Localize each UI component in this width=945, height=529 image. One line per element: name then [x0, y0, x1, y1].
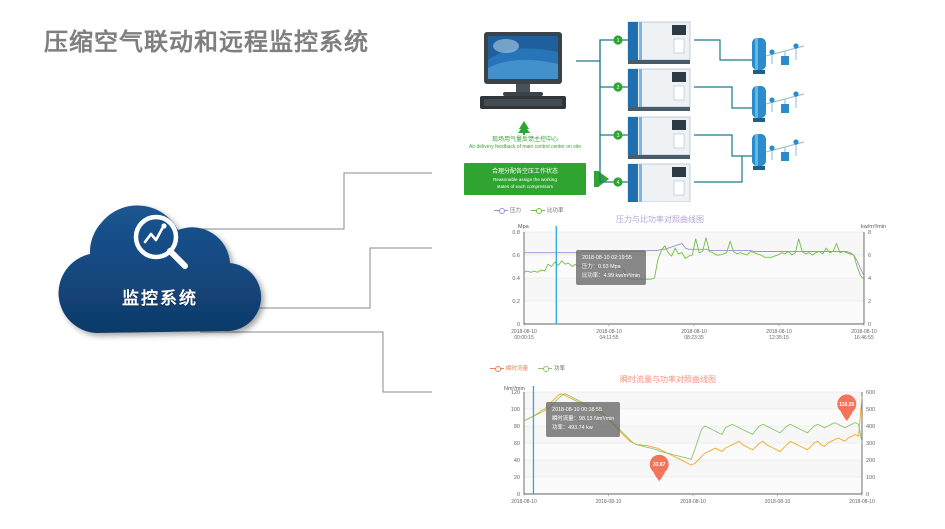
svg-text:4: 4 — [617, 180, 620, 186]
tooltip-timestamp: 2018-08-10 02:19:55 — [582, 254, 640, 263]
tooltip-line-1: 瞬时流量：98.13 Nm³/min — [552, 415, 614, 424]
svg-text:2018-08-10: 2018-08-10 — [596, 499, 622, 505]
pressure-chart-panel: 压力 比功率 压力与比功率对照曲线图 Mpa kw/m³/min 00.20.4… — [488, 202, 888, 340]
svg-text:300: 300 — [866, 441, 875, 447]
svg-text:1: 1 — [617, 38, 620, 44]
tooltip-timestamp: 2018-08-10 00:38:55 — [552, 406, 614, 415]
svg-text:40: 40 — [514, 458, 520, 464]
svg-text:2018-08-10: 2018-08-10 — [765, 499, 791, 505]
svg-text:500: 500 — [866, 407, 875, 413]
compressor-unit — [628, 22, 690, 202]
svg-text:120: 120 — [511, 390, 520, 396]
svg-text:0: 0 — [517, 492, 520, 498]
svg-text:2018-08-10: 2018-08-10 — [511, 499, 537, 505]
svg-text:0: 0 — [866, 492, 869, 498]
tooltip-line-1: 压力：0.63 Mpa — [582, 263, 640, 272]
svg-text:8: 8 — [868, 230, 871, 236]
svg-text:08:23:35: 08:23:35 — [684, 335, 704, 340]
svg-text:100: 100 — [511, 407, 520, 413]
svg-text:2: 2 — [617, 85, 620, 91]
system-diagram-panel: 现场用气量反馈主控中心 Air delivery feedback of mai… — [432, 16, 932, 202]
svg-text:0: 0 — [868, 322, 871, 328]
svg-text:200: 200 — [866, 458, 875, 464]
svg-text:16:46:55: 16:46:55 — [854, 335, 874, 340]
cloud-label: 监控系统 — [34, 284, 286, 309]
flow-power-chart-canvas[interactable]: 02040608010012001002003004005006002018-0… — [484, 362, 896, 529]
svg-text:6: 6 — [868, 253, 871, 259]
tooltip-line-2: 比功率：4.99 kw/m³/min — [582, 272, 640, 281]
flow-power-chart-panel: 瞬时流量 功率 瞬时流量与功率对照曲线图 Nm³/min 02040608010… — [484, 362, 896, 529]
svg-text:33.87: 33.87 — [653, 462, 666, 468]
svg-text:80: 80 — [514, 424, 520, 430]
svg-text:04:11:55: 04:11:55 — [599, 335, 618, 340]
pressure-chart-canvas[interactable]: 00.20.40.60.8024682018-08-1000:00:152018… — [488, 202, 888, 340]
magnifier-chart-icon — [130, 212, 192, 274]
svg-text:3: 3 — [617, 133, 620, 139]
pressure-chart-tooltip: 2018-08-10 02:19:55 压力：0.63 Mpa 比功率：4.99… — [576, 250, 646, 285]
svg-text:2018-08-10: 2018-08-10 — [849, 499, 875, 505]
svg-text:60: 60 — [514, 441, 520, 447]
flow-power-chart-tooltip: 2018-08-10 00:38:55 瞬时流量：98.13 Nm³/min 功… — [546, 402, 620, 437]
svg-text:0.6: 0.6 — [512, 253, 520, 259]
svg-text:400: 400 — [866, 424, 875, 430]
svg-text:0.8: 0.8 — [512, 230, 520, 236]
svg-text:00:00:15: 00:00:15 — [514, 335, 534, 340]
svg-text:2: 2 — [868, 299, 871, 305]
svg-text:110.55: 110.55 — [839, 402, 854, 408]
slide-root: 压缩空气联动和远程监控系统 监 — [0, 0, 945, 529]
svg-text:2018-08-10: 2018-08-10 — [680, 499, 706, 505]
piping-network: 1 2 3 4 — [432, 16, 932, 202]
svg-text:100: 100 — [866, 475, 875, 481]
svg-text:20: 20 — [514, 475, 520, 481]
svg-text:12:35:15: 12:35:15 — [769, 335, 789, 340]
tooltip-line-2: 功率：493.74 kw — [552, 424, 614, 433]
svg-text:4: 4 — [868, 276, 871, 282]
svg-text:600: 600 — [866, 390, 875, 396]
monitoring-cloud[interactable]: 监控系统 — [34, 192, 286, 344]
air-tank-group — [752, 38, 804, 170]
svg-text:0.2: 0.2 — [512, 299, 520, 305]
svg-text:0: 0 — [517, 322, 520, 328]
svg-text:0.4: 0.4 — [512, 276, 520, 282]
